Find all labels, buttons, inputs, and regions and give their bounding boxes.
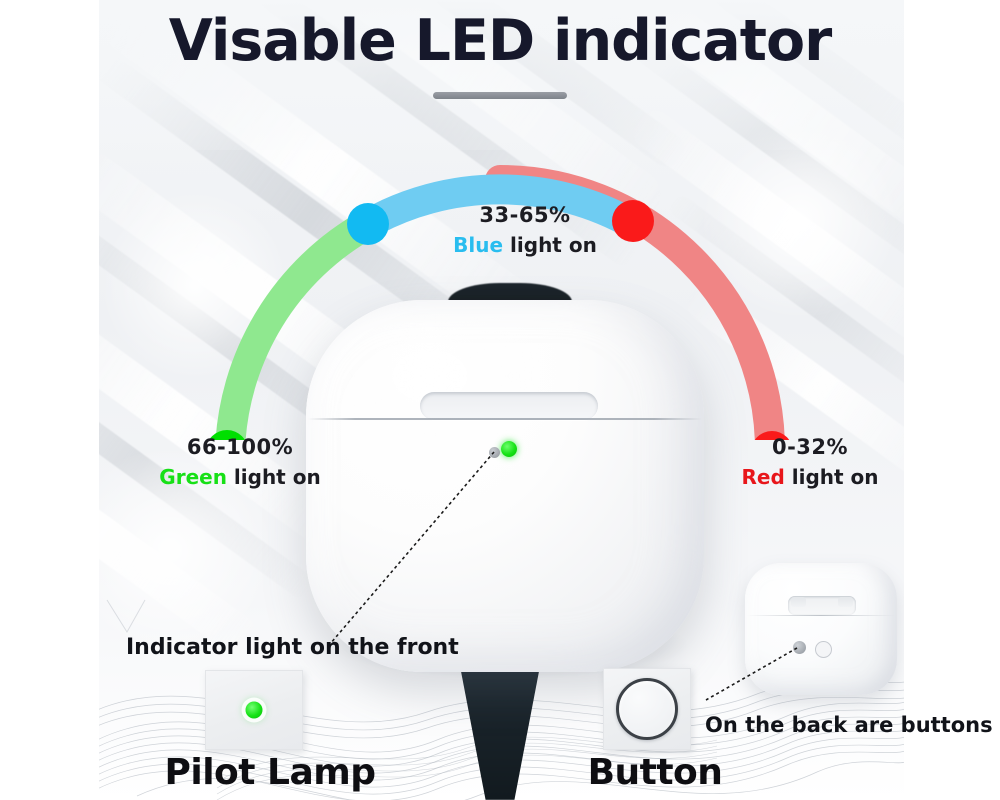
mini-case-hinge <box>788 596 856 615</box>
annotation-back-buttons: On the back are buttons <box>705 713 993 737</box>
gauge-label-blue-percent: 33-65% <box>380 200 670 230</box>
gauge-label-green-text: Green light on <box>120 462 360 492</box>
left-white-margin <box>0 0 99 800</box>
gauge-label-red-suffix: light on <box>785 465 879 489</box>
green-led-dot-icon <box>246 702 263 719</box>
caption-pilot-lamp: Pilot Lamp <box>160 752 380 793</box>
mini-case-button-outline <box>815 641 832 658</box>
gauge-segment-green <box>230 224 368 440</box>
gauge-label-red-percent: 0-32% <box>700 432 920 462</box>
gauge-label-blue: 33-65% Blue light on <box>380 200 670 260</box>
page-title: Visable LED indicator <box>0 8 1000 74</box>
pilot-lamp-swatch-box <box>205 670 303 750</box>
earbuds-charging-case-back <box>745 563 897 695</box>
gauge-label-blue-text: Blue light on <box>380 230 670 260</box>
gauge-label-red: 0-32% Red light on <box>700 432 920 492</box>
gauge-label-red-text: Red light on <box>700 462 920 492</box>
gauge-label-blue-colorword: Blue <box>453 233 503 257</box>
gauge-label-red-colorword: Red <box>741 465 784 489</box>
gauge-label-green: 66-100% Green light on <box>120 432 360 492</box>
button-swatch-box <box>603 668 691 750</box>
caption-button: Button <box>575 752 735 793</box>
case-lid-groove <box>420 392 598 420</box>
annotation-front-indicator: Indicator light on the front <box>126 635 459 660</box>
infographic-canvas: Visable LED indicator 33-65% Blue light … <box>0 0 1000 800</box>
gauge-label-green-suffix: light on <box>227 465 321 489</box>
case-seam-line <box>308 418 702 420</box>
gauge-label-blue-suffix: light on <box>503 233 597 257</box>
title-underline-rule <box>433 92 567 99</box>
gauge-label-green-colorword: Green <box>159 465 227 489</box>
round-button-icon <box>616 678 678 740</box>
front-led-leader-anchor <box>489 447 500 458</box>
right-white-margin <box>904 0 1000 800</box>
front-led-indicator <box>501 441 517 457</box>
mini-case-leader-anchor <box>793 641 806 654</box>
gauge-label-green-percent: 66-100% <box>120 432 360 462</box>
mini-case-seam-line <box>747 615 895 616</box>
